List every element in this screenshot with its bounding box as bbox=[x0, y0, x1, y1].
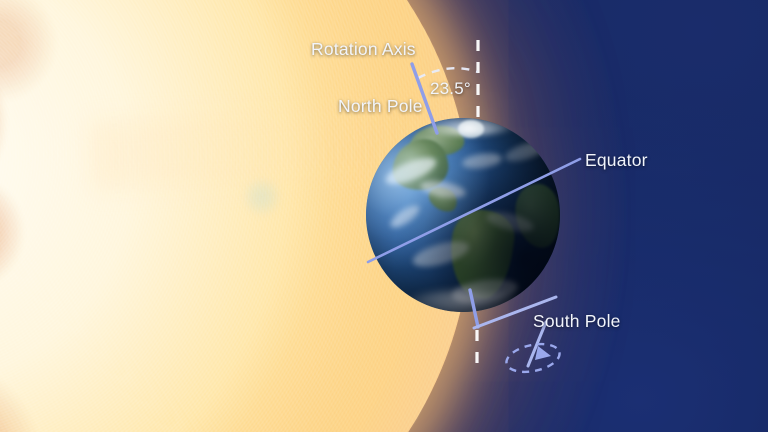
annotation-overlay bbox=[0, 0, 768, 432]
label-equator: Equator bbox=[585, 150, 648, 171]
label-north-pole: North Pole bbox=[338, 96, 423, 117]
rotation-direction-arrowhead bbox=[535, 346, 551, 360]
label-tilt-angle: 23.5° bbox=[430, 79, 471, 99]
label-rotation-axis: Rotation Axis bbox=[311, 39, 416, 60]
label-south-pole: South Pole bbox=[533, 311, 621, 332]
rotation-direction-ellipse bbox=[504, 340, 562, 377]
equator-line bbox=[368, 159, 580, 262]
diagram-canvas: Rotation Axis North Pole Equator South P… bbox=[0, 0, 768, 432]
rotation-axis-line-lower bbox=[470, 290, 478, 327]
tilt-angle-arc bbox=[418, 68, 478, 78]
